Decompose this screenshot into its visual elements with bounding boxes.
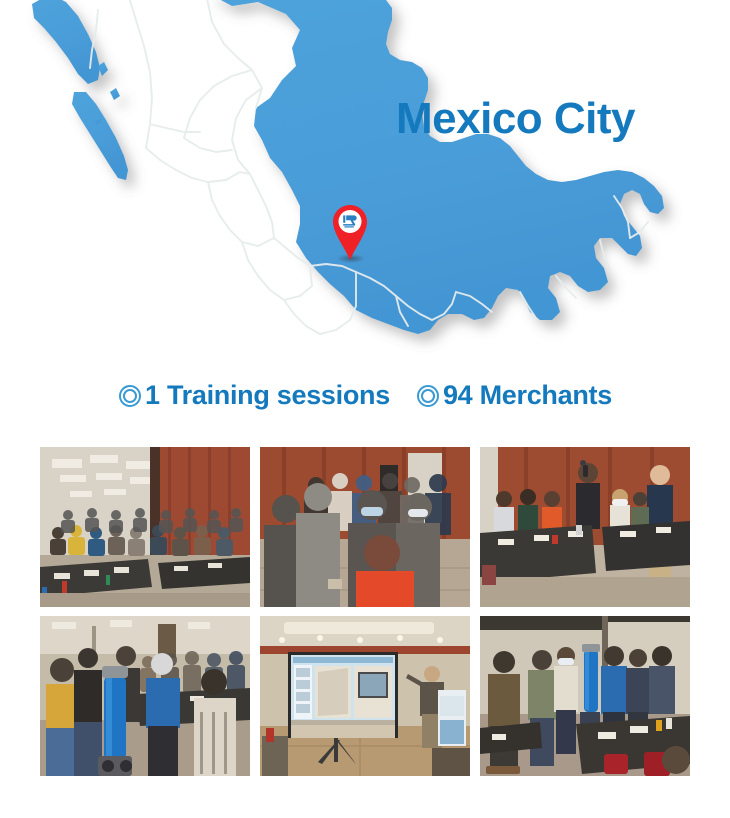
stat-merchants: 94 Merchants: [416, 382, 612, 409]
stat-merchants-label: 94 Merchants: [443, 382, 612, 409]
gallery-photo[interactable]: [260, 616, 470, 776]
gallery-photo[interactable]: [40, 616, 250, 776]
gallery-photo[interactable]: [40, 447, 250, 607]
photo-gallery: [40, 447, 690, 776]
gallery-photo[interactable]: [260, 447, 470, 607]
brand-logo-icon: [341, 212, 360, 231]
map-section: Mexico City: [0, 0, 730, 368]
bullseye-icon: [118, 384, 142, 408]
mexico-map-graphic: [0, 0, 730, 368]
gallery-photo[interactable]: [480, 616, 690, 776]
stats-summary: 1 Training sessions 94 Merchants: [0, 382, 730, 409]
bullseye-icon: [416, 384, 440, 408]
map-pin-marker[interactable]: [331, 204, 369, 266]
stat-training-sessions-label: 1 Training sessions: [145, 382, 390, 409]
gallery-photo[interactable]: [480, 447, 690, 607]
page-title: Mexico City: [396, 97, 635, 141]
stat-training-sessions: 1 Training sessions: [118, 382, 390, 409]
